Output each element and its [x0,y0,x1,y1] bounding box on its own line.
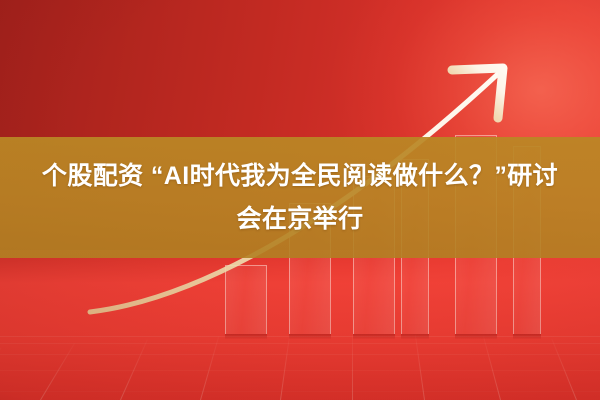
promo-banner: 个股配资 “AI时代我为全民阅读做什么？”研讨 会在京举行 [0,0,600,400]
headline-line-2: 会在京举行 [22,198,578,241]
background-lower-wash [0,250,600,400]
headline-text: 个股配资 “AI时代我为全民阅读做什么？”研讨 会在京举行 [0,155,600,241]
headline-band: 个股配资 “AI时代我为全民阅读做什么？”研讨 会在京举行 [0,137,600,258]
headline-line-1: 个股配资 “AI时代我为全民阅读做什么？”研讨 [22,155,578,198]
